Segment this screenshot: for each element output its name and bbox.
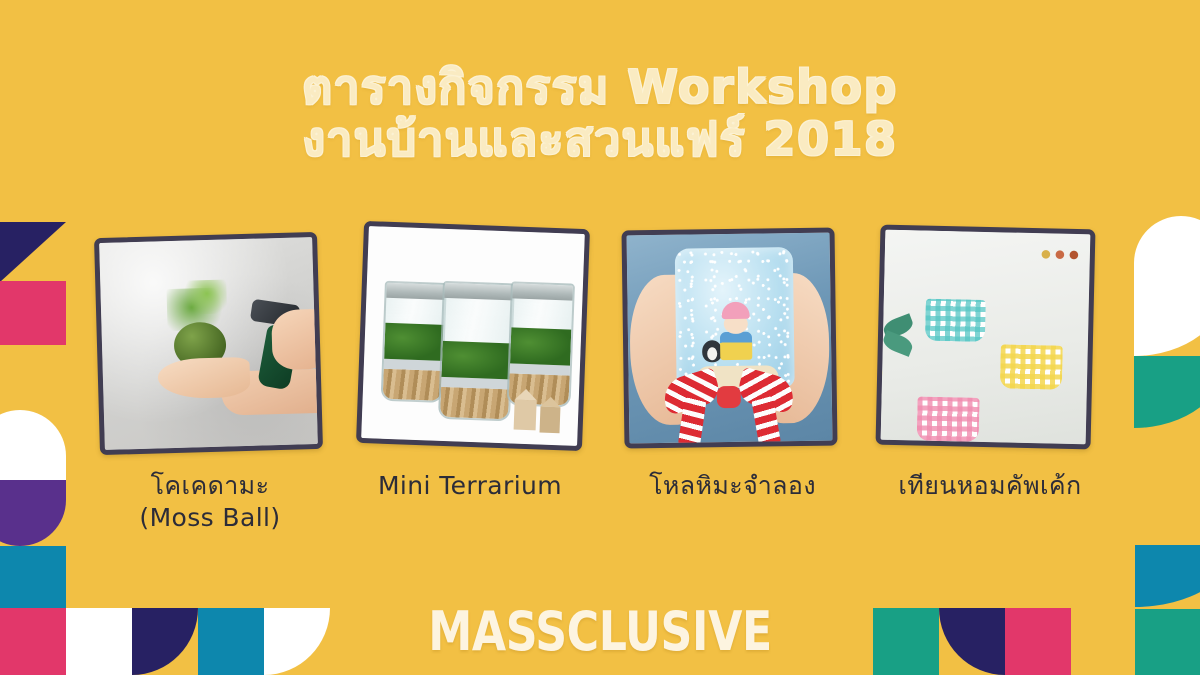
banner-title: ตารางกิจกรรม Workshop งานบ้านและสวนแฟร์ … bbox=[0, 62, 1200, 165]
blue-quarter-circle-decoration bbox=[1135, 545, 1200, 607]
workshop-card-terrarium[interactable] bbox=[356, 221, 590, 451]
workshop-card-row bbox=[0, 225, 1200, 465]
caption-kokedama: โคเคดามะ (Moss Ball) bbox=[95, 470, 325, 534]
pink-gingham-cup bbox=[917, 396, 980, 441]
moss-layer bbox=[510, 327, 571, 365]
caption-kokedama-line2: (Moss Ball) bbox=[95, 502, 325, 534]
metal-jar-lid bbox=[441, 283, 515, 301]
terrarium-jar-center bbox=[438, 281, 515, 422]
workshop-card-snow-globe[interactable] bbox=[621, 228, 837, 449]
brand-wordmark: MASSCLUSIVE bbox=[108, 600, 1092, 663]
snow-globe-jar bbox=[675, 247, 795, 389]
hand-holding-sprayer bbox=[271, 308, 318, 370]
purple-donut-topping bbox=[881, 440, 909, 445]
caption-candle-cupcake: เทียนหอมคัพเค้ก bbox=[865, 470, 1115, 502]
title-line-1: ตารางกิจกรรม Workshop bbox=[0, 62, 1200, 114]
pebble-layer bbox=[383, 369, 442, 401]
caption-kokedama-line1: โคเคดามะ bbox=[95, 470, 325, 502]
pebble-layer bbox=[440, 387, 509, 419]
soft-white-background bbox=[881, 230, 1091, 445]
terrarium-jar-left bbox=[381, 281, 447, 403]
snow-globe-photo bbox=[627, 233, 833, 444]
ribbon-knot bbox=[717, 386, 741, 408]
metal-jar-lid bbox=[383, 283, 447, 300]
doll-body bbox=[720, 332, 752, 360]
caption-candle-cupcake-line1: เทียนหอมคัพเค้ก bbox=[865, 470, 1115, 502]
wooden-house-figure-large bbox=[514, 400, 537, 431]
teal-gingham-cup bbox=[925, 299, 986, 342]
moss-layer bbox=[384, 323, 443, 361]
workshop-card-kokedama[interactable] bbox=[94, 232, 323, 455]
caption-snow-globe-line1: โหลหิมะจำลอง bbox=[610, 470, 855, 502]
caption-terrarium: Mini Terrarium bbox=[345, 470, 595, 502]
workshop-caption-row: โคเคดามะ (Moss Ball) Mini Terrarium โหลห… bbox=[0, 470, 1200, 550]
caption-terrarium-line1: Mini Terrarium bbox=[345, 470, 595, 502]
kokedama-photo bbox=[99, 237, 318, 450]
teal-rectangle-decoration bbox=[0, 546, 66, 608]
moss-layer bbox=[441, 341, 510, 379]
candle-cupcake-photo bbox=[881, 230, 1091, 445]
caption-snow-globe: โหลหิมะจำลอง bbox=[610, 470, 855, 502]
decorative-dots bbox=[1040, 249, 1080, 260]
terrarium-photo bbox=[361, 226, 585, 446]
pink-square-bottom-decoration bbox=[0, 608, 66, 675]
title-line-2: งานบ้านและสวนแฟร์ 2018 bbox=[0, 114, 1200, 166]
green-square-right-decoration bbox=[1135, 609, 1200, 675]
metal-jar-lid bbox=[509, 283, 575, 300]
plant-foliage-front bbox=[182, 279, 227, 314]
yellow-gingham-cup bbox=[1000, 344, 1063, 389]
workshop-banner: ตารางกิจกรรม Workshop งานบ้านและสวนแฟร์ … bbox=[0, 0, 1200, 675]
workshop-card-candle-cupcake[interactable] bbox=[876, 225, 1096, 450]
wooden-house-figure-small bbox=[540, 407, 561, 434]
